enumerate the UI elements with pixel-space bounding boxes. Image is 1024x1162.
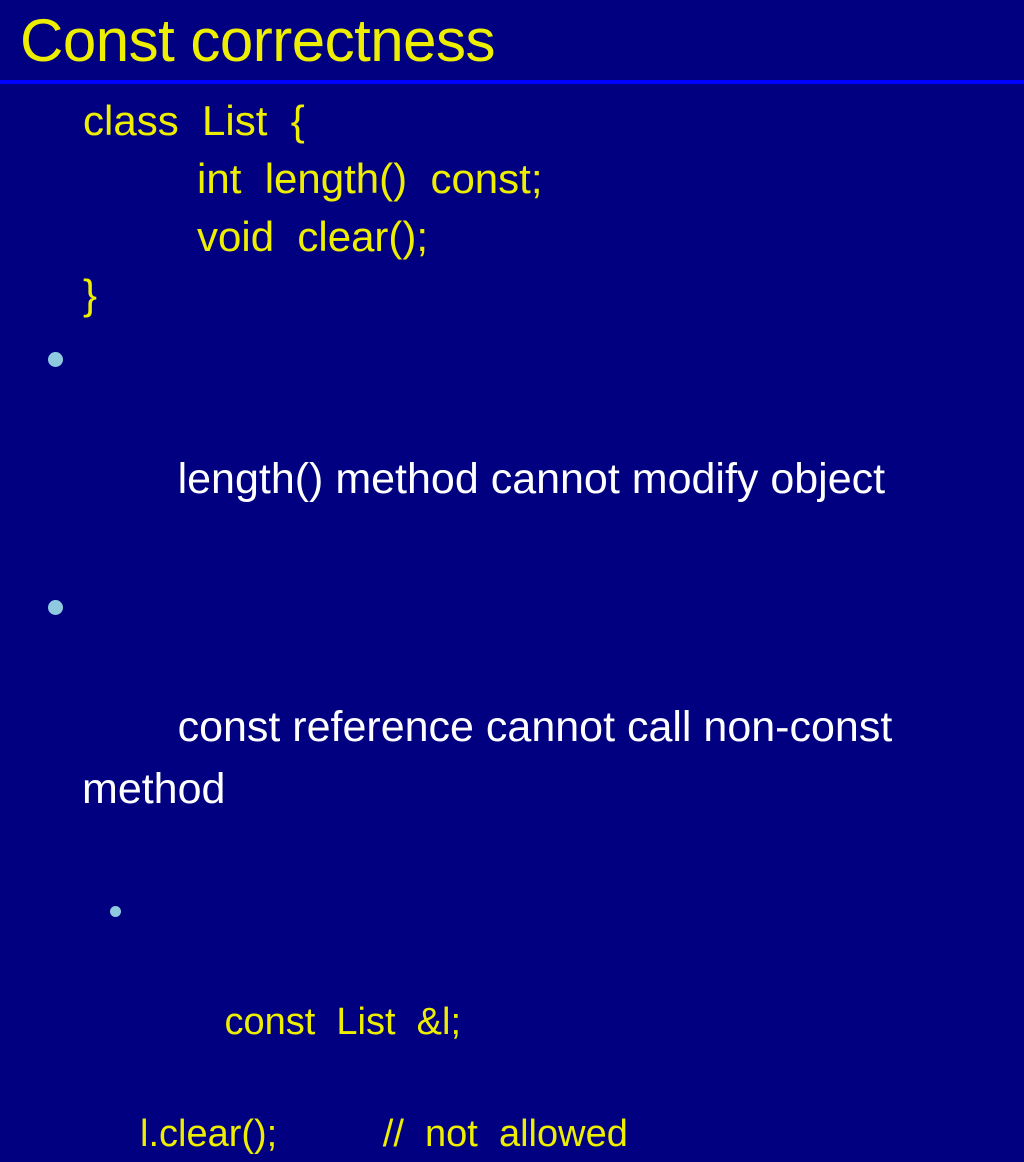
- bullet-list: length() method cannot modify object con…: [0, 324, 1024, 882]
- list-item: const reference cannot call non-const me…: [0, 572, 1024, 882]
- sub-list-item-label: const List &l;: [224, 1001, 461, 1043]
- page-title: Const correctness: [20, 6, 495, 76]
- bullet-dot-icon: [110, 906, 121, 917]
- list-item-label: const reference cannot call non-const me…: [82, 703, 904, 813]
- title-divider: [0, 80, 1024, 84]
- bullet-dot-icon: [48, 600, 63, 615]
- code-line: int length() const;: [0, 150, 1024, 208]
- code-line: void clear();: [0, 208, 1024, 266]
- code-block: class List { int length() const; void cl…: [0, 92, 1024, 324]
- slide: Const correctness class List { int lengt…: [0, 0, 1024, 768]
- sub-list-item: const List &l;: [0, 882, 1024, 1106]
- slide-body: class List { int length() const; void cl…: [0, 92, 1024, 1162]
- sub-list-item-continuation: l.clear(); // not allowed: [0, 1106, 1024, 1162]
- bullet-dot-icon: [48, 352, 63, 367]
- list-item-label: length() method cannot modify object: [178, 455, 886, 503]
- code-line: class List {: [0, 92, 1024, 150]
- code-line: }: [0, 266, 1024, 324]
- sub-bullet-list: const List &l; l.clear(); // not allowed: [0, 882, 1024, 1162]
- list-item: length() method cannot modify object: [0, 324, 1024, 572]
